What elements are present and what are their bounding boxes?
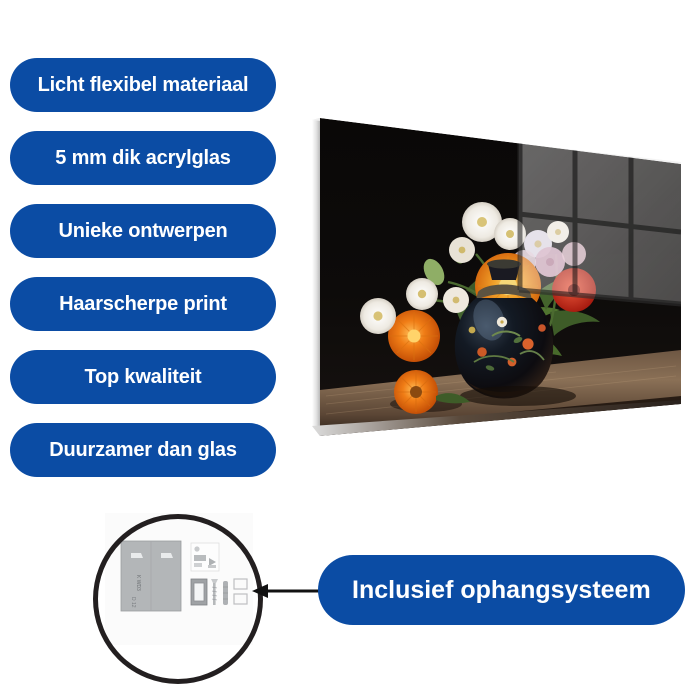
panel-left-edge	[312, 118, 320, 436]
hanging-system-callout: K WD3 D 12	[0, 500, 700, 680]
feature-pill-top-kwaliteit[interactable]: Top kwaliteit	[10, 350, 276, 404]
feature-pill-label: Unieke ontwerpen	[58, 221, 227, 241]
feature-pill-label: Top kwaliteit	[84, 367, 201, 387]
artwork-svg	[306, 104, 682, 436]
feature-pill-licht-flexibel-materiaal[interactable]: Licht flexibel materiaal	[10, 58, 276, 112]
feature-pill-5-mm-dik-acrylglas[interactable]: 5 mm dik acrylglas	[10, 131, 276, 185]
callout-pill-label: Inclusief ophangsysteem	[352, 578, 651, 603]
acrylic-glass-artwork-preview[interactable]	[306, 104, 682, 436]
callout-pill-inclusief-ophangsysteem[interactable]: Inclusief ophangsysteem	[318, 555, 685, 625]
feature-pill-label: Duurzamer dan glas	[49, 440, 237, 460]
window-reflection	[519, 138, 681, 304]
feature-pill-label: Haarscherpe print	[59, 294, 227, 314]
feature-pill-list: Licht flexibel materiaal 5 mm dik acrylg…	[10, 58, 276, 496]
feature-pill-label: Licht flexibel materiaal	[38, 75, 249, 95]
feature-pill-unieke-ontwerpen[interactable]: Unieke ontwerpen	[10, 204, 276, 258]
highlight-circle	[93, 514, 263, 684]
feature-pill-haarscherpe-print[interactable]: Haarscherpe print	[10, 277, 276, 331]
panel-face	[320, 118, 681, 436]
feature-pill-duurzamer-dan-glas[interactable]: Duurzamer dan glas	[10, 423, 276, 477]
feature-pill-label: 5 mm dik acrylglas	[55, 148, 230, 168]
